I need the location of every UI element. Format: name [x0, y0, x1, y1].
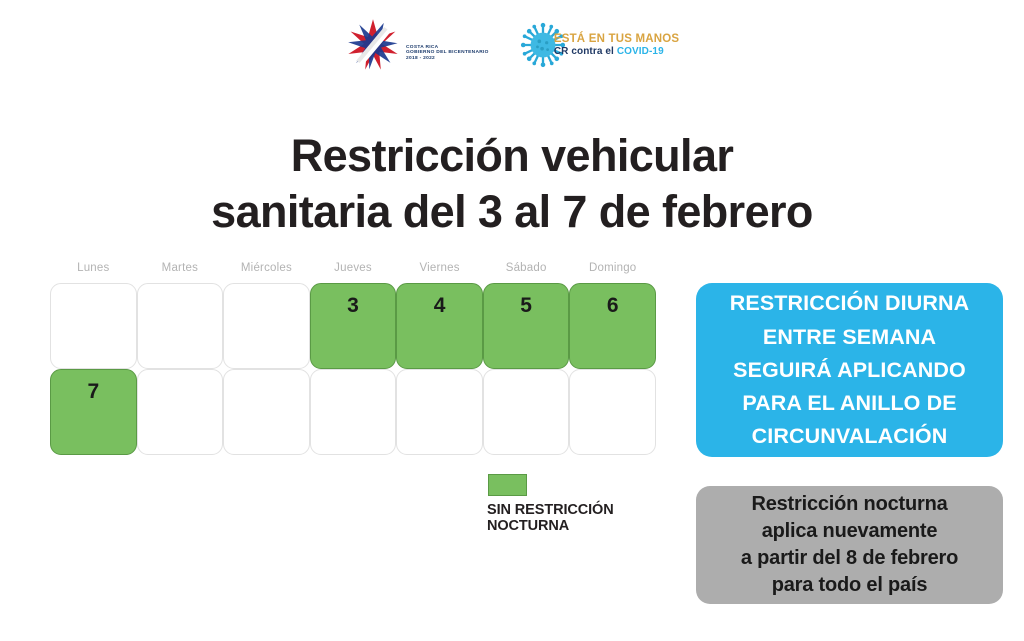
day-header-martes: Martes [137, 262, 224, 274]
day-header-viernes: Viernes [396, 262, 483, 274]
calendar-cell[interactable]: 4 [396, 283, 483, 369]
calendar-cell-number: 5 [484, 294, 569, 318]
calendar-cell[interactable] [50, 283, 137, 369]
covid-campaign-logo: ESTÁ EN TUS MANOS CR contra el COVID-19 [520, 22, 679, 68]
calendar-cell[interactable]: 3 [310, 283, 397, 369]
page-title-line1: Restricción vehicular [0, 128, 1024, 184]
page-title: Restricción vehicular sanitaria del 3 al… [0, 128, 1024, 240]
day-header-domingo: Domingo [569, 262, 656, 274]
day-header-jueves: Jueves [310, 262, 397, 274]
legend-label-line2: NOCTURNA [487, 518, 647, 534]
calendar-cell[interactable] [137, 369, 224, 455]
day-header-sabado: Sábado [483, 262, 570, 274]
calendar-cell[interactable] [569, 369, 656, 455]
day-header-lunes: Lunes [50, 262, 137, 274]
callout-night-restriction: Restricción nocturna aplica nuevamente a… [696, 486, 1003, 604]
callout-blue-line1: RESTRICCIÓN DIURNA [730, 287, 970, 319]
legend-color-swatch [488, 474, 527, 496]
costa-rica-government-logo: COSTA RICA GOBIERNO DEL BICENTENARIO 201… [345, 17, 476, 73]
calendar-cell[interactable] [310, 369, 397, 455]
calendar-cell[interactable] [396, 369, 483, 455]
legend: SIN RESTRICCIÓN NOCTURNA [487, 474, 647, 534]
callout-daytime-restriction: RESTRICCIÓN DIURNA ENTRE SEMANA SEGUIRÁ … [696, 283, 1003, 457]
calendar-cell-number: 4 [397, 294, 482, 318]
covid-logo-line1: ESTÁ EN TUS MANOS [554, 33, 679, 46]
costa-rica-bicentenario-star-logo [345, 17, 401, 73]
covid-logo-line2-highlight: COVID-19 [617, 46, 664, 57]
calendar-cell-number: 7 [51, 380, 136, 404]
calendar: Lunes Martes Miércoles Jueves Viernes Sá… [50, 262, 656, 455]
callout-gray-line4: para todo el país [772, 572, 928, 599]
calendar-cell[interactable] [137, 283, 224, 369]
covid-logo-line2: CR contra el COVID-19 [554, 46, 679, 57]
costa-rica-logo-text: COSTA RICA GOBIERNO DEL BICENTENARIO 201… [406, 30, 476, 61]
calendar-cell[interactable]: 6 [569, 283, 656, 369]
calendar-cell[interactable] [223, 283, 310, 369]
legend-label-line1: SIN RESTRICCIÓN [487, 502, 647, 518]
callout-blue-line3: SEGUIRÁ APLICANDO [733, 354, 966, 386]
callout-blue-line2: ENTRE SEMANA [763, 321, 936, 353]
calendar-cell[interactable] [223, 369, 310, 455]
calendar-cell[interactable] [483, 369, 570, 455]
calendar-day-headers: Lunes Martes Miércoles Jueves Viernes Sá… [50, 262, 656, 274]
cr-logo-line3: 2018 - 2022 [406, 54, 489, 61]
callout-blue-line5: CIRCUNVALACIÓN [752, 420, 948, 452]
calendar-cell[interactable]: 5 [483, 283, 570, 369]
calendar-cell[interactable]: 7 [50, 369, 137, 455]
page-title-line2: sanitaria del 3 al 7 de febrero [0, 184, 1024, 240]
callout-gray-line2: aplica nuevamente [762, 518, 938, 545]
callout-gray-line3: a partir del 8 de febrero [741, 545, 958, 572]
covid-logo-line2-prefix: CR contra el [554, 46, 617, 57]
calendar-grid: 3 4 5 6 7 [50, 283, 656, 455]
header-logo-bar: COSTA RICA GOBIERNO DEL BICENTENARIO 201… [0, 0, 1024, 90]
day-header-miercoles: Miércoles [223, 262, 310, 274]
legend-label: SIN RESTRICCIÓN NOCTURNA [487, 502, 647, 534]
covid-logo-text: ESTÁ EN TUS MANOS CR contra el COVID-19 [554, 33, 679, 57]
calendar-cell-number: 6 [570, 294, 655, 318]
callout-gray-line1: Restricción nocturna [751, 491, 947, 518]
callout-blue-line4: PARA EL ANILLO DE [742, 387, 956, 419]
calendar-cell-number: 3 [311, 294, 396, 318]
